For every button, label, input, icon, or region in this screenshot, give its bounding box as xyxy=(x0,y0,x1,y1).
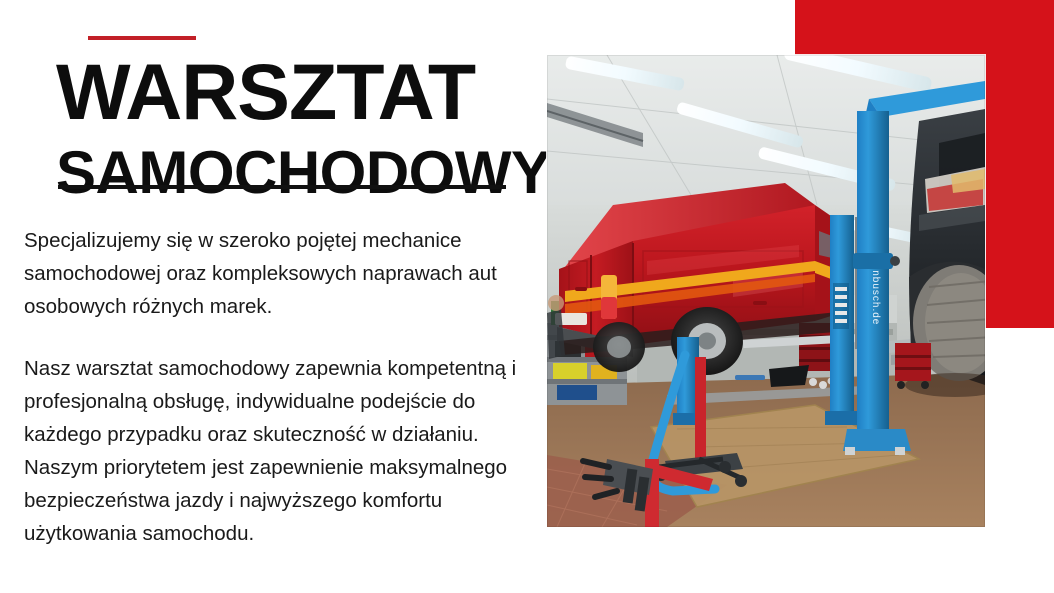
workshop-photo-illustration: twinbusch.de xyxy=(547,55,985,527)
paragraph-services: Nasz warsztat samochodowy zapewnia kompe… xyxy=(24,352,524,550)
workshop-photo: twinbusch.de xyxy=(547,55,985,527)
page-title: WARSZTAT SAMOCHODOWY xyxy=(56,54,536,203)
title-line-primary: WARSZTAT xyxy=(56,54,536,129)
slide-root: WARSZTAT SAMOCHODOWY Specjalizujemy się … xyxy=(0,0,1054,593)
paragraph-intro: Specjalizujemy się w szeroko pojętej mec… xyxy=(24,224,524,323)
title-underline xyxy=(58,185,506,189)
red-accent-rule xyxy=(88,36,196,40)
title-line-secondary: SAMOCHODOWY xyxy=(56,143,550,203)
body-copy: Specjalizujemy się w szeroko pojętej mec… xyxy=(24,224,524,550)
